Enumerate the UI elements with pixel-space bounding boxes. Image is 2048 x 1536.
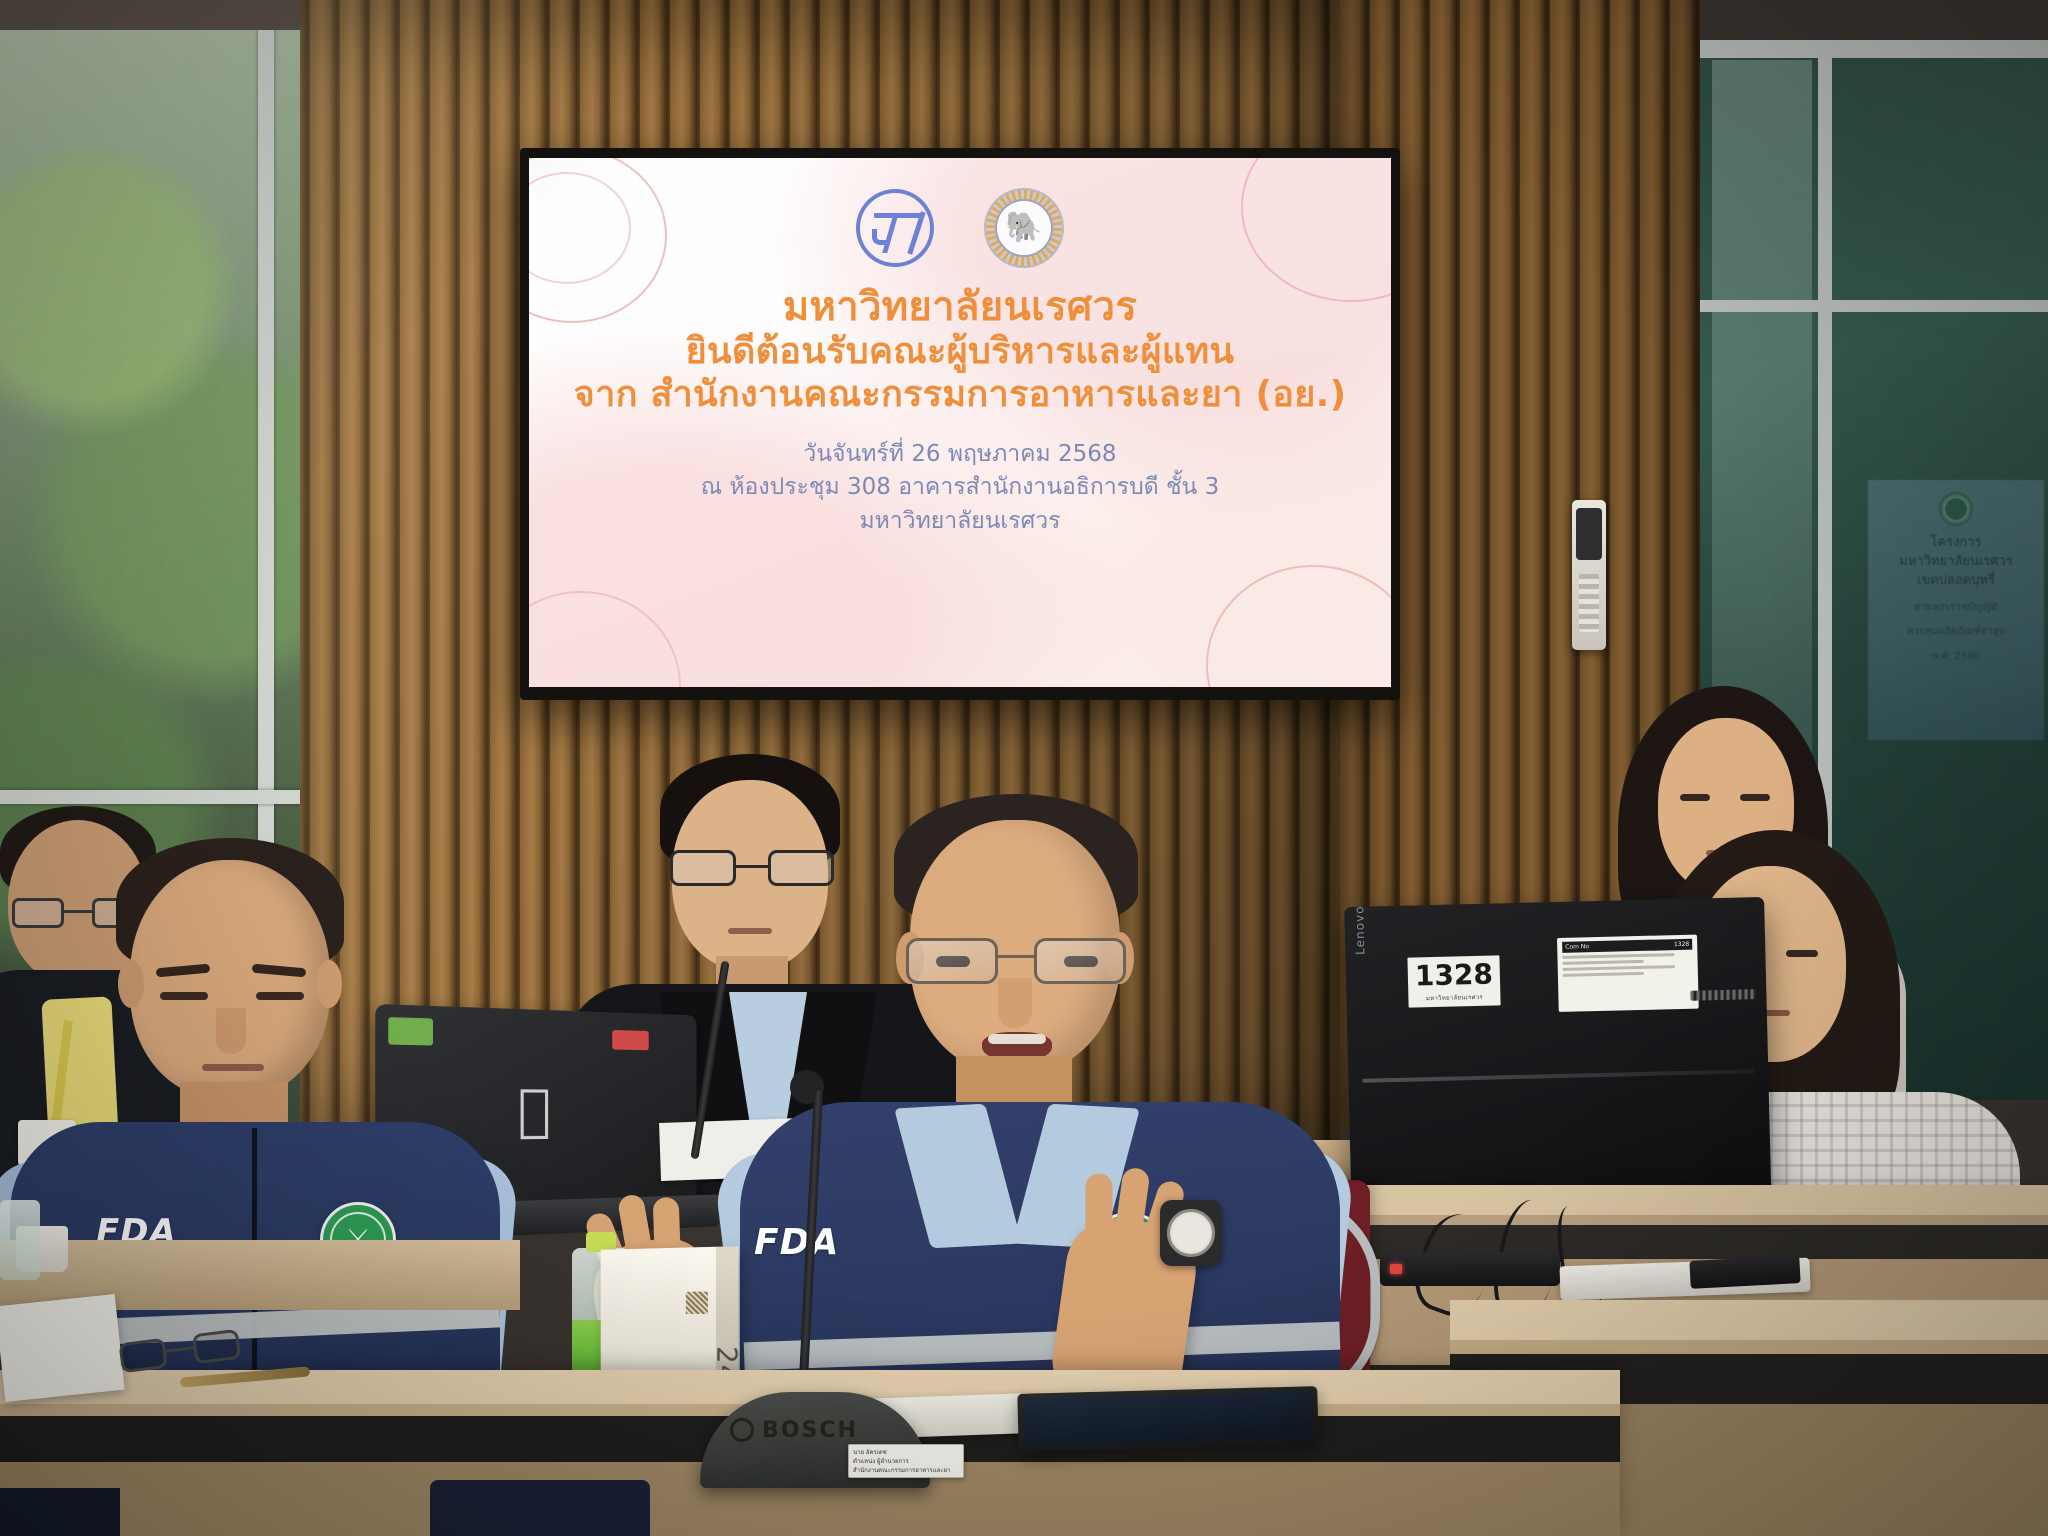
- name-strip-line-2: ตำแหน่ง ผู้อำนวยการ: [853, 1457, 959, 1466]
- poster-logo: [1939, 492, 1973, 526]
- monitor-spec-label: Com No 1328: [1557, 935, 1699, 1012]
- phone-handset: [1576, 508, 1602, 560]
- slide-canvas: 🐘 มหาวิทยาลัยนเรศวร ยินดีต้อนรับคณะผู้บร…: [529, 158, 1391, 687]
- foreground-object: [0, 1488, 120, 1536]
- monitor-seam: [1362, 1069, 1754, 1083]
- window-mullion-horizontal: [0, 790, 300, 804]
- power-led-icon: [1390, 1264, 1402, 1274]
- paper-sheet: [0, 1294, 125, 1402]
- mouth: [202, 1064, 264, 1071]
- poster-small-1: ตามพระราชบัญญัติ: [1878, 601, 2034, 616]
- thai-fda-seal-icon: 🐘: [984, 188, 1064, 268]
- poster-small-2: ควบคุมผลิตภัณฑ์ยาสูบ: [1878, 625, 2034, 640]
- eye-right: [1786, 950, 1818, 957]
- vest-fda-text: FDA: [754, 1222, 839, 1263]
- name-strip-line-1: นาย อัครเดช: [853, 1448, 959, 1457]
- person-speaker-fda: FDA ⚔: [760, 820, 1320, 1460]
- spec-label-title: Com No: [1565, 943, 1589, 951]
- poster-line-3: เขตปลอดบุหรี่: [1878, 572, 2034, 591]
- foreground-object: [430, 1480, 650, 1536]
- nose: [998, 978, 1032, 1028]
- eye-right-closed: [256, 992, 304, 1000]
- meeting-room-photo: โครงการ มหาวิทยาลัยนเรศวร เขตปลอดบุหรี่ …: [0, 0, 2048, 1536]
- asset-tag: 1328 มหาวิทยาลัยนเรศวร: [1405, 953, 1502, 1009]
- eye-left-closed: [160, 992, 208, 1000]
- wall-left-upper: [0, 0, 300, 30]
- naresuan-university-logo-icon: [856, 189, 934, 267]
- slide-title-line-2: ยินดีต้อนรับคณะผู้บริหารและผู้แทน: [574, 331, 1347, 373]
- bosch-logo-icon: [730, 1418, 754, 1442]
- slide-subtitle-line-3: มหาวิทยาลัยนเรศวร: [701, 505, 1219, 538]
- wristwatch: [1160, 1200, 1222, 1266]
- asset-tag-number: 1328: [1415, 960, 1494, 990]
- name-strip-line-3: สำนักงานคณะกรรมการอาหารและยา: [853, 1466, 959, 1475]
- microphone-brand-text: BOSCH: [762, 1418, 858, 1443]
- eye-right: [1740, 794, 1770, 801]
- wall-telephone[interactable]: [1572, 500, 1606, 650]
- slide-title-line-3: จาก สำนักงานคณะกรรมการอาหารและยา (อย.): [574, 374, 1347, 416]
- computer-monitor-rear: Lenovo 1328 มหาวิทยาลัยนเรศวร Com No 132…: [1344, 897, 1772, 1225]
- monitor-brand-label: Lenovo: [1352, 905, 1367, 955]
- bosch-microphone-base[interactable]: BOSCH นาย อัครเดช ตำแหน่ง ผู้อำนวยการ สำ…: [700, 1392, 930, 1488]
- water-bottle-left: [0, 1200, 40, 1280]
- eye-left: [1680, 794, 1710, 801]
- power-strip[interactable]: [1380, 1252, 1560, 1286]
- slide-logos: 🐘: [856, 188, 1064, 268]
- slide-title: มหาวิทยาลัยนเรศวร ยินดีต้อนรับคณะผู้บริห…: [574, 284, 1347, 416]
- microphone-name-strip: นาย อัครเดช ตำแหน่ง ผู้อำนวยการ สำนักงาน…: [848, 1444, 964, 1478]
- face: [130, 860, 330, 1098]
- monitor-port-strip: [1690, 989, 1756, 1001]
- nose: [216, 1008, 246, 1054]
- slide-subtitle-line-2: ณ ห้องประชุม 308 อาคารสำนักงานอธิการบดี …: [701, 471, 1219, 504]
- tablet-screen[interactable]: [1024, 1392, 1311, 1445]
- watch-face: [1167, 1209, 1215, 1257]
- ear-left: [118, 960, 144, 1008]
- slide-subtitle: วันจันทร์ที่ 26 พฤษภาคม 2568 ณ ห้องประชุ…: [701, 438, 1219, 538]
- qr-code-icon: [686, 1292, 708, 1314]
- spec-label-value: 1328: [1674, 941, 1689, 948]
- glass-frame-top: [1700, 40, 2048, 58]
- apple-logo-icon: : [509, 1084, 560, 1143]
- tablet-device[interactable]: [1017, 1386, 1318, 1452]
- phone-keypad[interactable]: [1579, 574, 1599, 632]
- slide-title-line-1: มหาวิทยาลัยนเรศวร: [574, 284, 1347, 331]
- glass-frame-middle: [1700, 300, 2048, 312]
- mobile-phone[interactable]: [1689, 1255, 1800, 1289]
- laptop-sticker-red: [612, 1030, 648, 1050]
- ear-right: [316, 960, 342, 1008]
- presentation-screen: 🐘 มหาวิทยาลัยนเรศวร ยินดีต้อนรับคณะผู้บร…: [520, 148, 1400, 700]
- slide-subtitle-line-1: วันจันทร์ที่ 26 พฤษภาคม 2568: [701, 438, 1219, 471]
- asset-tag-subtext: มหาวิทยาลัยนเรศวร: [1426, 991, 1483, 1002]
- poster-line-1: โครงการ: [1878, 534, 2034, 553]
- poster-line-2: มหาวิทยาลัยนเรศวร: [1878, 553, 2034, 572]
- poster-small-3: พ.ศ. 2560: [1878, 650, 2034, 665]
